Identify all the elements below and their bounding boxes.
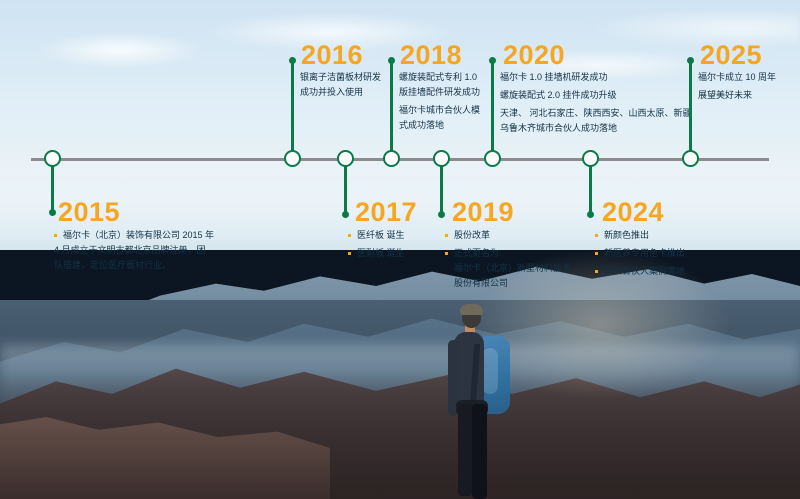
timeline-stem-dot-2025 bbox=[687, 57, 694, 64]
timeline-stem-2018 bbox=[390, 60, 393, 152]
year-label-2016: 2016 bbox=[301, 42, 363, 69]
bullet-item: 新颜色推出 bbox=[595, 228, 685, 243]
hiker-backpack-highlight bbox=[482, 348, 498, 394]
bullet-item: 螺旋装配式专利 1.0 版挂墙配件研发成功 bbox=[390, 70, 480, 100]
bullet-item: 新医养专用色卡推出 bbox=[595, 246, 685, 261]
timeline-stem-2019 bbox=[440, 166, 443, 214]
timeline-stem-2017 bbox=[344, 166, 347, 214]
milestone-bullets-2016: 银离子洁菌板材研发 成功并投入使用 bbox=[291, 70, 381, 103]
milestone-bullets-2025: 福尔卡成立 10 周年 展望美好未来 bbox=[689, 70, 776, 106]
bullet-item: 福尔卡成立 10 周年 bbox=[689, 70, 776, 85]
bullet-item: 展望美好未来 bbox=[689, 88, 776, 103]
milestone-bullets-2017: 医纤板 诞生 医耐板 诞生 bbox=[348, 228, 405, 264]
timeline-stem-2024 bbox=[589, 166, 592, 214]
year-label-2018: 2018 bbox=[400, 42, 462, 69]
timeline-stem-2016 bbox=[291, 60, 294, 152]
timeline-node-2017[interactable] bbox=[337, 150, 354, 167]
milestone-bullets-2024: 新颜色推出 新医养专用色卡推出 深圳合伙人案例落地 bbox=[595, 228, 685, 282]
milestone-bullets-2018: 螺旋装配式专利 1.0 版挂墙配件研发成功 福尔卡城市合伙人模 式成功落地 bbox=[390, 70, 480, 136]
bullet-item: 螺旋装配式 2.0 挂件成功升级 bbox=[491, 88, 692, 103]
bullet-item: 福尔卡 1.0 挂墙机研发成功 bbox=[491, 70, 692, 85]
hiker-left-leg bbox=[458, 404, 472, 496]
year-label-2024: 2024 bbox=[602, 199, 664, 226]
timeline-node-2015[interactable] bbox=[44, 150, 61, 167]
hiker-hat bbox=[460, 304, 483, 315]
bullet-item: 深圳合伙人案例落地 bbox=[595, 264, 685, 279]
bullet-item: 天津、 河北石家庄、陕西西安、山西太原、新疆 乌鲁木齐城市合伙人成功落地 bbox=[491, 106, 692, 136]
timeline-stem-dot-2016 bbox=[289, 57, 296, 64]
timeline-stem-dot-2020 bbox=[489, 57, 496, 64]
timeline-stem-2015 bbox=[51, 166, 54, 212]
timeline-stem-2025 bbox=[689, 60, 692, 152]
hiker-silhouette bbox=[432, 300, 528, 499]
year-label-2015: 2015 bbox=[58, 199, 120, 226]
bullet-item: 福尔卡城市合伙人模 式成功落地 bbox=[390, 103, 480, 133]
timeline-node-2016[interactable] bbox=[284, 150, 301, 167]
bullet-item: 福尔卡（北京）装饰有限公司 2015 年 4 月成立于文明古都北京品牌注册，团 … bbox=[54, 228, 214, 273]
timeline-stem-dot-2024 bbox=[587, 211, 594, 218]
timeline-node-2018[interactable] bbox=[383, 150, 400, 167]
timeline-stem-2020 bbox=[491, 60, 494, 152]
bullet-item: 正式更名为: 福尔卡（北京）新型材料技术 股份有限公司 bbox=[445, 246, 571, 291]
hiker-right-leg bbox=[472, 404, 487, 499]
timeline-stem-dot-2018 bbox=[388, 57, 395, 64]
year-label-2019: 2019 bbox=[452, 199, 514, 226]
bullet-item: 银离子洁菌板材研发 成功并投入使用 bbox=[291, 70, 381, 100]
timeline-node-2025[interactable] bbox=[682, 150, 699, 167]
year-label-2017: 2017 bbox=[355, 199, 417, 226]
timeline-node-2020[interactable] bbox=[484, 150, 501, 167]
bullet-item: 医纤板 诞生 bbox=[348, 228, 405, 243]
timeline-axis bbox=[31, 158, 769, 161]
bullet-item: 医耐板 诞生 bbox=[348, 246, 405, 261]
bullet-item: 股份改革 bbox=[445, 228, 571, 243]
timeline-infographic: 2015 福尔卡（北京）装饰有限公司 2015 年 4 月成立于文明古都北京品牌… bbox=[0, 0, 800, 499]
timeline-node-2024[interactable] bbox=[582, 150, 599, 167]
year-label-2025: 2025 bbox=[700, 42, 762, 69]
timeline-stem-dot-2019 bbox=[438, 211, 445, 218]
year-label-2020: 2020 bbox=[503, 42, 565, 69]
milestone-bullets-2019: 股份改革 正式更名为: 福尔卡（北京）新型材料技术 股份有限公司 bbox=[445, 228, 571, 294]
milestone-bullets-2015: 福尔卡（北京）装饰有限公司 2015 年 4 月成立于文明古都北京品牌注册，团 … bbox=[54, 228, 214, 276]
timeline-stem-dot-2017 bbox=[342, 211, 349, 218]
milestone-bullets-2020: 福尔卡 1.0 挂墙机研发成功 螺旋装配式 2.0 挂件成功升级 天津、 河北石… bbox=[491, 70, 692, 139]
timeline-stem-dot-2015 bbox=[49, 209, 56, 216]
timeline-node-2019[interactable] bbox=[433, 150, 450, 167]
